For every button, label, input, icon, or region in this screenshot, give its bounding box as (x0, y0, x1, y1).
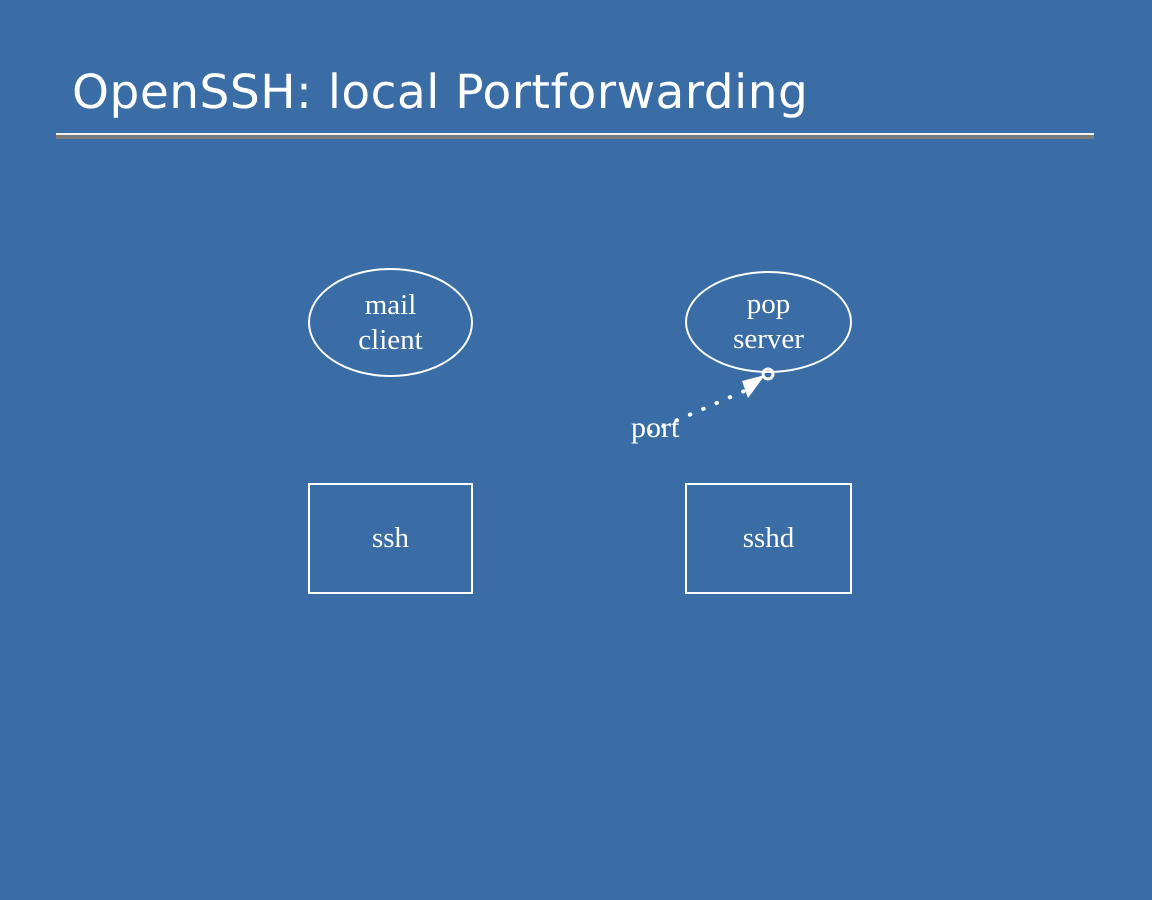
diagram-node-label: mail client (358, 288, 422, 358)
slide: OpenSSH: local Portforwarding mail clien… (0, 0, 1152, 900)
diagram-node-pop-server: pop server (685, 271, 852, 373)
diagram-node-sshd: sshd (685, 483, 852, 594)
diagram-node-label: sshd (743, 521, 795, 556)
diagram-connectors (0, 0, 1152, 900)
port-connector-arrowhead-icon (742, 375, 765, 398)
diagram-canvas: mail client pop server ssh sshd port (0, 0, 1152, 900)
diagram-node-label: ssh (372, 521, 409, 556)
diagram-node-ssh: ssh (308, 483, 473, 594)
port-connector-label: port (631, 411, 679, 445)
diagram-node-label: pop server (733, 287, 804, 357)
diagram-node-mail-client: mail client (308, 268, 473, 377)
